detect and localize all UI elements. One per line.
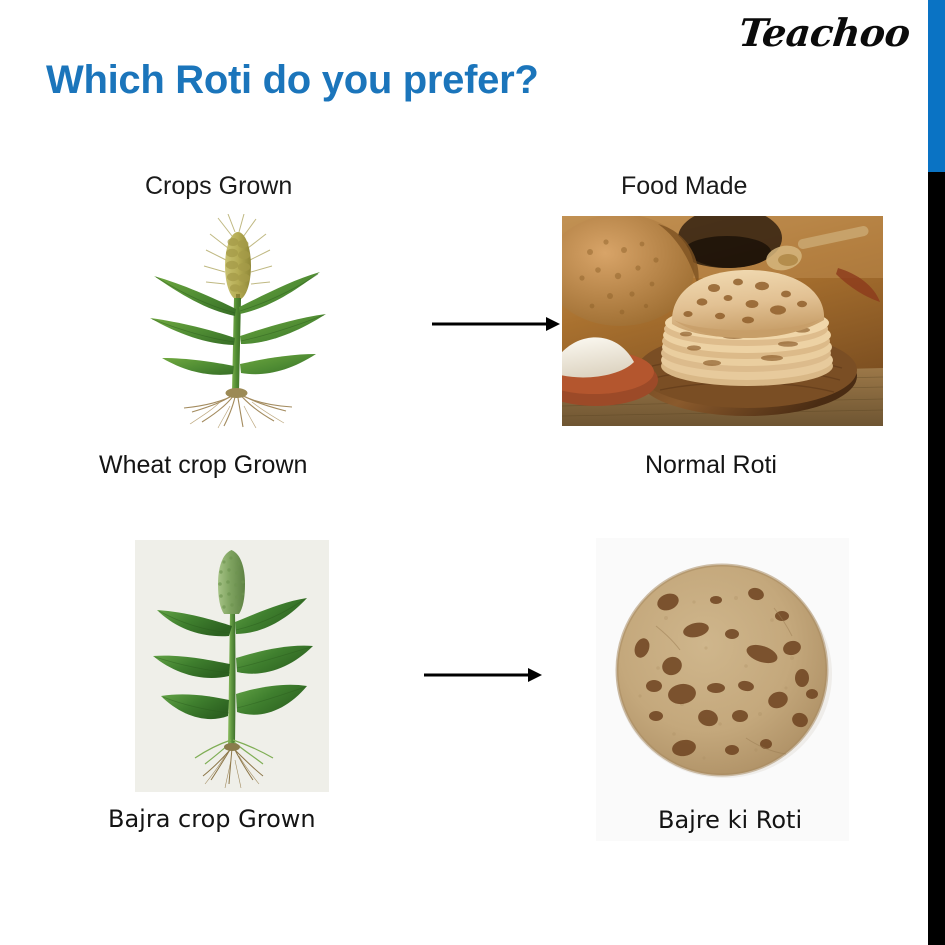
teachoo-logo: Teachoo	[737, 14, 912, 52]
caption-normal-roti: Normal Roti	[645, 451, 777, 480]
bajra-roti-photo	[596, 538, 849, 841]
slide-canvas: Teachoo Which Roti do you prefer? Crops …	[0, 0, 945, 945]
arrow-wheat-to-roti	[432, 316, 560, 332]
normal-roti-stack-photo	[562, 216, 883, 426]
caption-wheat-crop-grown: Wheat crop Grown	[99, 451, 307, 480]
arrow-bajra-to-roti	[424, 667, 542, 683]
right-edge-blue-bar	[928, 0, 945, 172]
wheat-plant-illustration	[140, 214, 330, 430]
arrow-shaft	[424, 674, 530, 677]
bajra-pearl-millet-plant-photo	[135, 540, 329, 792]
arrow-shaft	[432, 323, 548, 326]
column-header-food-made: Food Made	[621, 172, 747, 201]
right-edge-black-bar	[928, 172, 945, 945]
page-title: Which Roti do you prefer?	[46, 58, 538, 103]
caption-bajra-crop-grown: Bajra crop Grown	[108, 805, 316, 833]
column-header-crops-grown: Crops Grown	[145, 172, 292, 201]
arrow-head	[528, 668, 542, 682]
arrow-head	[546, 317, 560, 331]
caption-bajre-ki-roti: Bajre ki Roti	[658, 806, 802, 834]
